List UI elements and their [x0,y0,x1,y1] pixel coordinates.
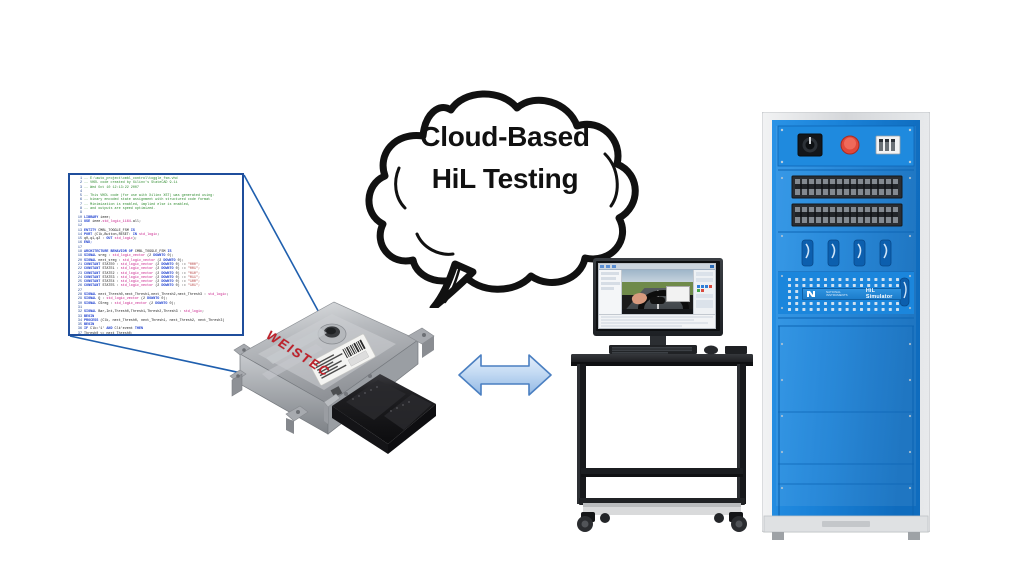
hil-workstation-cart [565,250,765,535]
tree-item[interactable] [601,282,620,285]
code-line: 37 Thresh0 <= next_Thresh0; [71,332,241,336]
indicator [705,285,708,288]
tree-item[interactable] [601,272,619,275]
code-line-text: -- and outputs are speed optimized. [84,207,155,211]
app-tree-panel[interactable] [599,270,622,314]
code-line-text: END; [84,241,92,245]
indicator [701,289,704,292]
titlebar-icon [600,265,604,268]
ecu-module: WEISTEC [228,292,448,457]
ni-plate-label: HiL Simulator [866,288,901,300]
rack-shape [762,112,930,544]
code-line-text: PROCESS (Clk, next_Thresh0, next_Thresh1… [84,319,224,323]
log-row [601,322,708,324]
code-line-text: USE ieee.std_logic_1164.all; [84,220,141,224]
log-row [601,316,713,318]
code-line-text: SIGNAL CSreg : std_logic_vector (2 DOWNT… [84,302,176,306]
diagram-canvas: Cloud-Based HiL Testing 1-- E:\auto_proj… [0,0,1024,576]
code-line-text: SIGNAL Bar,Int,Thresh0,Thresh1,Thresh2,T… [84,310,204,314]
code-line-number: 37 [71,332,84,336]
vhdl-code-window[interactable]: 1-- E:\auto_project\cmbl_control\toggle_… [68,173,244,336]
bidirectional-arrow [455,345,555,405]
code-line-text: -- Wed Oct 10 12:13:22 2007 [84,186,139,190]
scene-minimap [666,286,690,302]
code-line-list: 1-- E:\auto_project\cmbl_control\toggle_… [71,177,241,336]
hil-simulator-rack: NATIONAL INSTRUMENTS HiL Simulator [762,112,930,544]
app-body [599,270,715,314]
code-line: 34 PROCESS (Clk, next_Thresh0, next_Thre… [71,319,241,323]
tree-item[interactable] [601,277,616,280]
log-row [601,319,694,321]
app-log-panel[interactable] [599,314,715,329]
control-group[interactable] [696,300,713,308]
indicator [697,289,700,292]
driving-simulator-app[interactable] [598,263,716,329]
titlebar-icon [612,265,616,268]
control-group[interactable] [696,272,713,276]
titlebar-icon [606,265,610,268]
ecu-shape [228,292,448,457]
code-line-text: CONSTANT STATE5 : std_logic_vector (2 DO… [84,284,200,288]
ni-hil-simulator-plate: NATIONAL INSTRUMENTS HiL Simulator [802,288,902,300]
control-group[interactable] [696,294,713,298]
indicator-swatches [696,284,713,292]
steering-wheel-hub [650,297,664,304]
indicator [701,285,704,288]
indicator [697,285,700,288]
control-group[interactable] [696,278,713,282]
national-instruments-logo [806,290,822,298]
log-row [601,325,682,327]
code-line-text: Thresh0 <= next_Thresh0; [84,332,133,336]
tree-item[interactable] [601,287,614,290]
titlebar-button[interactable] [710,265,714,268]
app-control-panel[interactable] [693,270,715,314]
indicator [709,285,712,288]
ni-vendor-name: NATIONAL INSTRUMENTS [826,291,861,297]
driving-scene-viewport [622,270,693,314]
scene-dashboard [622,309,693,314]
